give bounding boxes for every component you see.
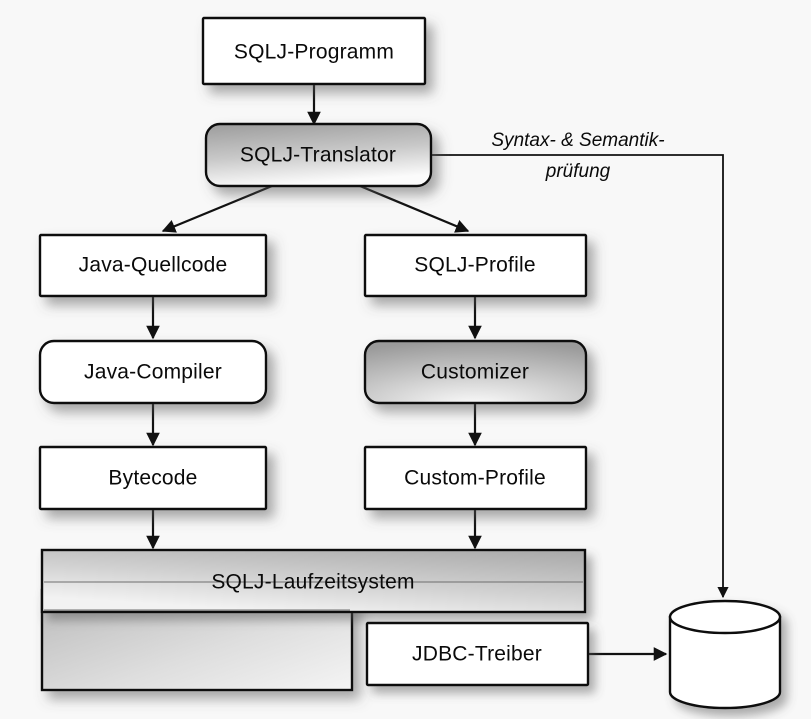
bytecode-label: Bytecode — [108, 467, 197, 490]
sqlj-profile-label: SQLJ-Profile — [414, 254, 535, 277]
node-sqlj-programm[interactable]: SQLJ-Programm — [203, 18, 425, 84]
custom-profile-label: Custom-Profile — [404, 467, 546, 490]
sqlj-architecture-diagram: SQLJ-Programm SQLJ-Translator Syntax- & … — [0, 0, 811, 719]
node-database-cylinder[interactable] — [670, 601, 780, 708]
node-bytecode[interactable]: Bytecode — [40, 447, 266, 509]
java-compiler-label: Java-Compiler — [84, 361, 222, 384]
node-jdbc-treiber[interactable]: JDBC-Treiber — [367, 623, 588, 685]
jdbc-treiber-label: JDBC-Treiber — [412, 643, 542, 666]
syntax-check-label-line2: prüfung — [545, 161, 611, 182]
diagram-canvas: SQLJ-Programm SQLJ-Translator Syntax- & … — [0, 0, 811, 719]
node-custom-profile[interactable]: Custom-Profile — [365, 447, 586, 509]
sqlj-programm-label: SQLJ-Programm — [234, 41, 394, 64]
edge-translator-to-quellcode — [163, 186, 272, 231]
sqlj-translator-label: SQLJ-Translator — [240, 144, 396, 167]
node-sqlj-profile[interactable]: SQLJ-Profile — [365, 235, 586, 296]
node-customizer[interactable]: Customizer — [365, 341, 586, 403]
database-cylinder-top — [670, 601, 780, 633]
node-java-compiler[interactable]: Java-Compiler — [40, 341, 266, 403]
java-quellcode-label: Java-Quellcode — [79, 254, 228, 277]
syntax-check-label-line1: Syntax- & Semantik- — [491, 130, 664, 151]
customizer-label: Customizer — [421, 361, 529, 384]
edge-translator-to-profile — [360, 186, 468, 231]
node-sqlj-translator[interactable]: SQLJ-Translator — [206, 124, 431, 186]
node-java-quellcode[interactable]: Java-Quellcode — [40, 235, 266, 296]
sqlj-laufzeitsystem-label: SQLJ-Laufzeitsystem — [211, 571, 414, 594]
annotation-syntax-semantik-pruefung: Syntax- & Semantik- prüfung — [491, 130, 664, 182]
